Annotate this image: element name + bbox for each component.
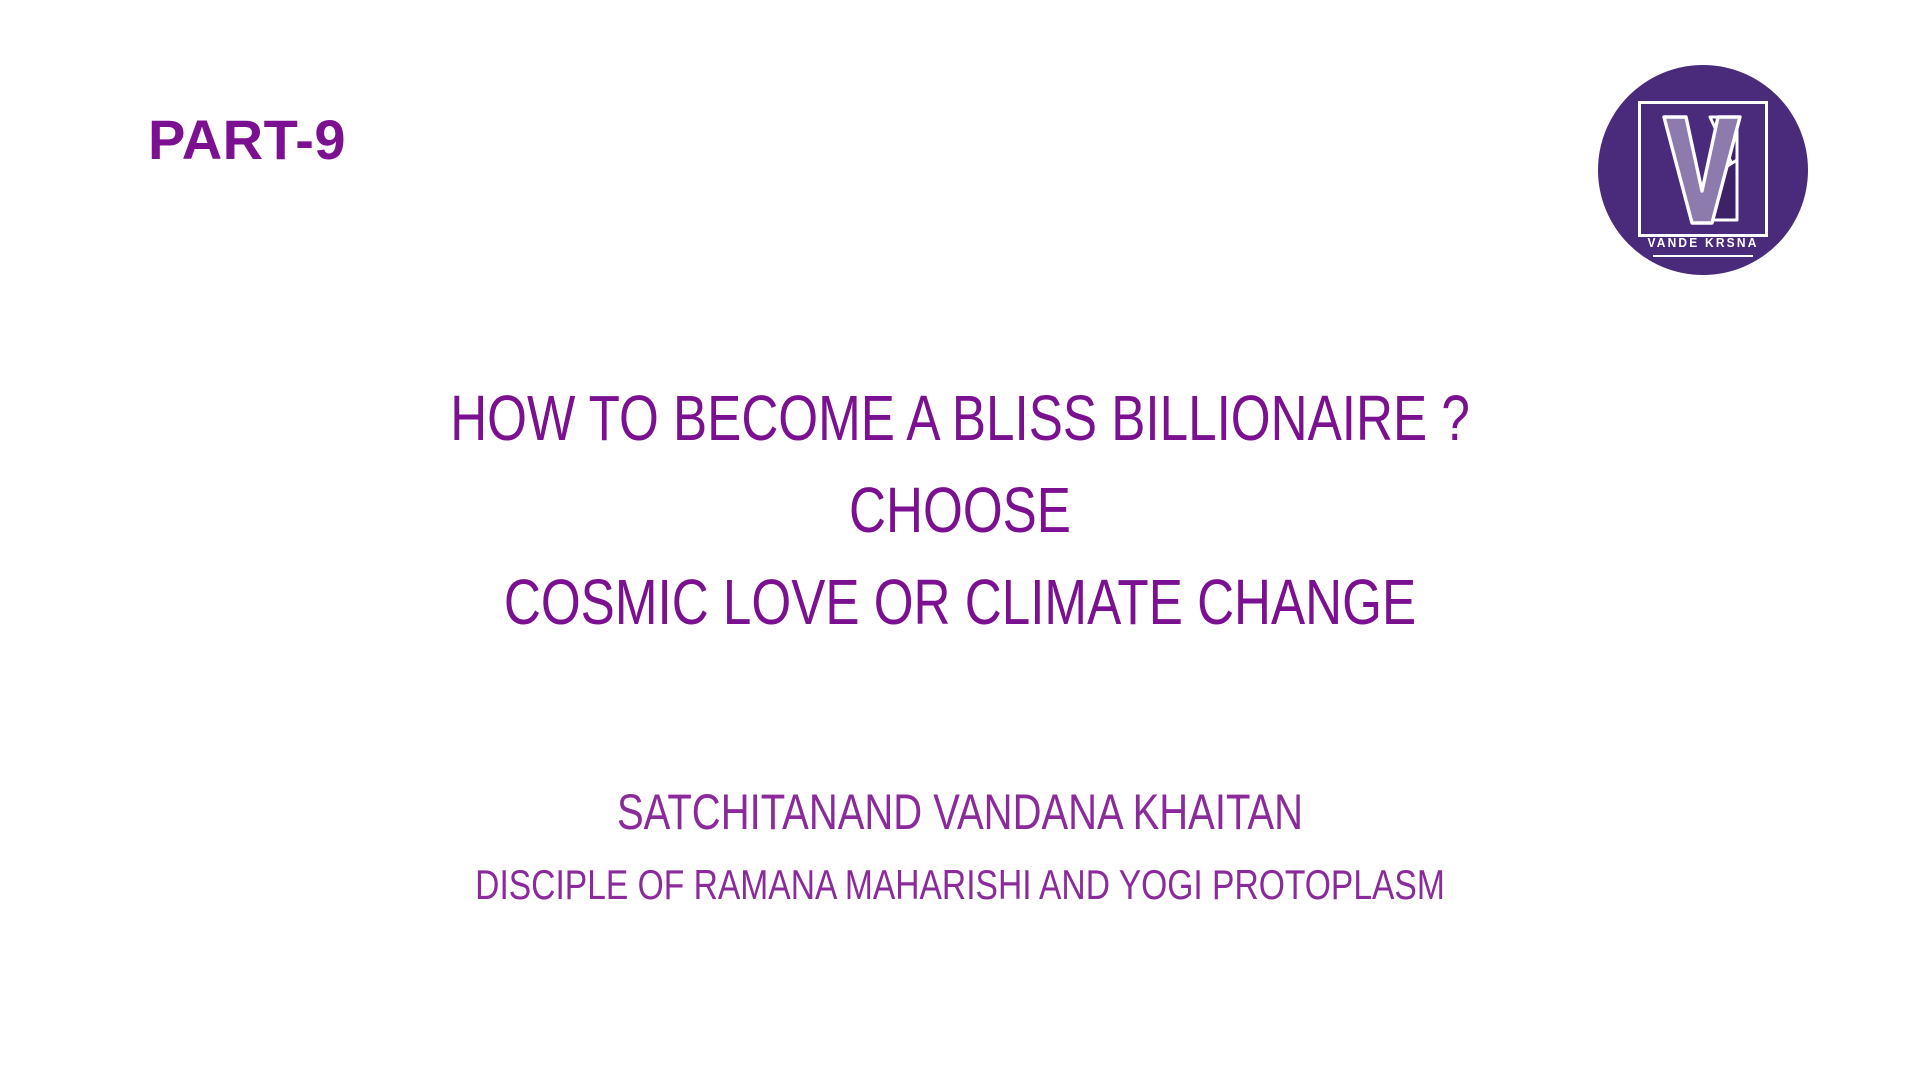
logo-caption-underline [1653, 255, 1753, 257]
author-block: SATCHITANAND VANDANA KHAITAN DISCIPLE OF… [0, 780, 1920, 914]
part-label: PART-9 [148, 112, 346, 168]
title-line-1: HOW TO BECOME A BLISS BILLIONAIRE ? [192, 372, 1728, 464]
title-line-3: COSMIC LOVE OR CLIMATE CHANGE [192, 556, 1728, 648]
title-line-2: CHOOSE [192, 464, 1728, 556]
author-description: DISCIPLE OF RAMANA MAHARISHI AND YOGI PR… [192, 856, 1728, 914]
logo-caption: VANDE KRSNA [1606, 235, 1799, 250]
slide-title: HOW TO BECOME A BLISS BILLIONAIRE ? CHOO… [0, 372, 1920, 648]
vande-krsna-logo: VANDE KRSNA [1598, 65, 1808, 275]
author-name: SATCHITANAND VANDANA KHAITAN [192, 780, 1728, 844]
title-slide: PART-9 VANDE KRSNA HOW TO BECOME A BLISS… [0, 0, 1920, 1080]
